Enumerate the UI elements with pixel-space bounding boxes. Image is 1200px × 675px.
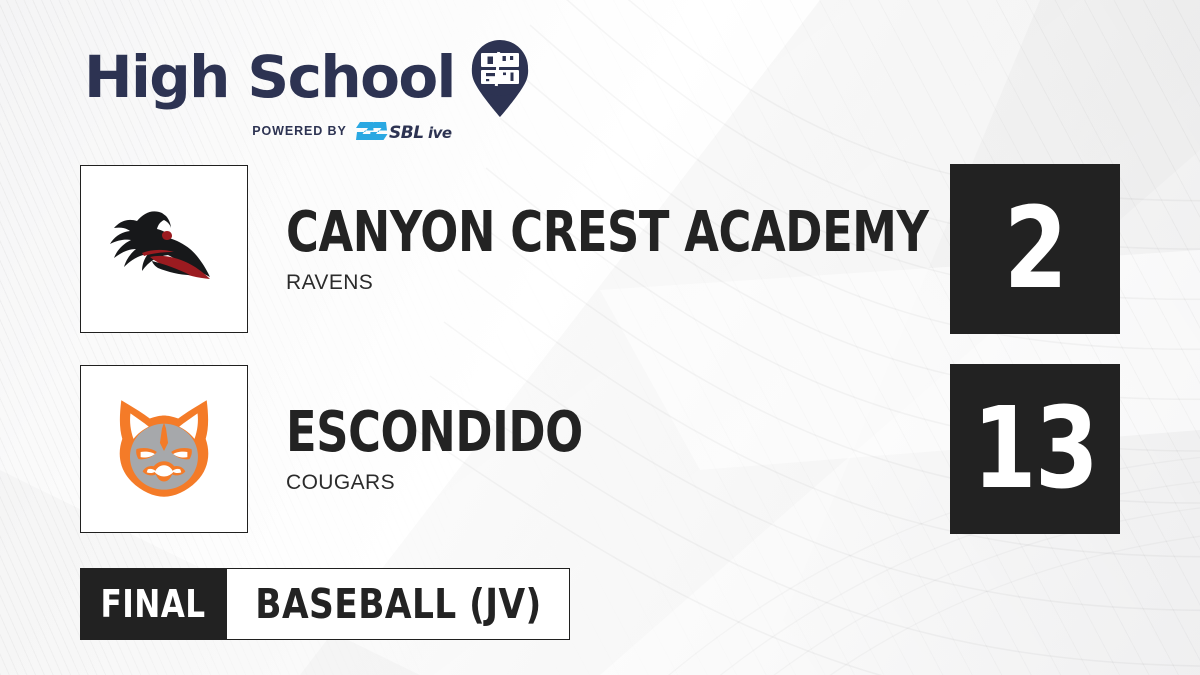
- svg-text:SBL: SBL: [389, 123, 424, 142]
- team-mascot: RAVENS: [286, 271, 950, 295]
- team-name: CANYON CREST ACADEMY: [286, 204, 817, 262]
- team-name: ESCONDIDO: [286, 404, 817, 462]
- team-row: CANYON CREST ACADEMY RAVENS 2: [80, 164, 1120, 334]
- score-graphic: High School: [0, 0, 1200, 675]
- svg-text:ive: ive: [428, 124, 452, 142]
- game-state-label: FINAL: [101, 585, 206, 623]
- raven-head-logo-icon: [104, 189, 224, 309]
- sblive-logo-icon: SBL ive: [356, 120, 464, 142]
- game-state-badge: FINAL: [80, 568, 227, 640]
- team-mascot: COUGARS: [286, 471, 950, 495]
- team-row: ESCONDIDO COUGARS 13: [80, 364, 1120, 534]
- team-score: 2: [1004, 193, 1066, 305]
- brand-logo: High School: [84, 36, 514, 142]
- team-info: CANYON CREST ACADEMY RAVENS: [248, 204, 950, 295]
- powered-by-label: POWERED BY: [252, 124, 346, 138]
- team-score-box: 13: [950, 364, 1120, 534]
- brand-wordmark: High School: [84, 46, 455, 108]
- team-score-box: 2: [950, 164, 1120, 334]
- team-logo-box: [80, 365, 248, 533]
- team-logo-box: [80, 165, 248, 333]
- powered-by-row: POWERED BY SBL ive: [84, 120, 514, 142]
- cougar-head-logo-icon: [103, 388, 225, 510]
- on-si-pin-icon: [467, 36, 533, 118]
- status-bar: FINAL BASEBALL (JV): [80, 568, 570, 640]
- team-info: ESCONDIDO COUGARS: [248, 404, 950, 495]
- sport-badge: BASEBALL (JV): [227, 568, 570, 640]
- team-score: 13: [973, 393, 1098, 505]
- sport-label: BASEBALL (JV): [255, 584, 541, 625]
- brand-logo-row: High School: [84, 36, 514, 118]
